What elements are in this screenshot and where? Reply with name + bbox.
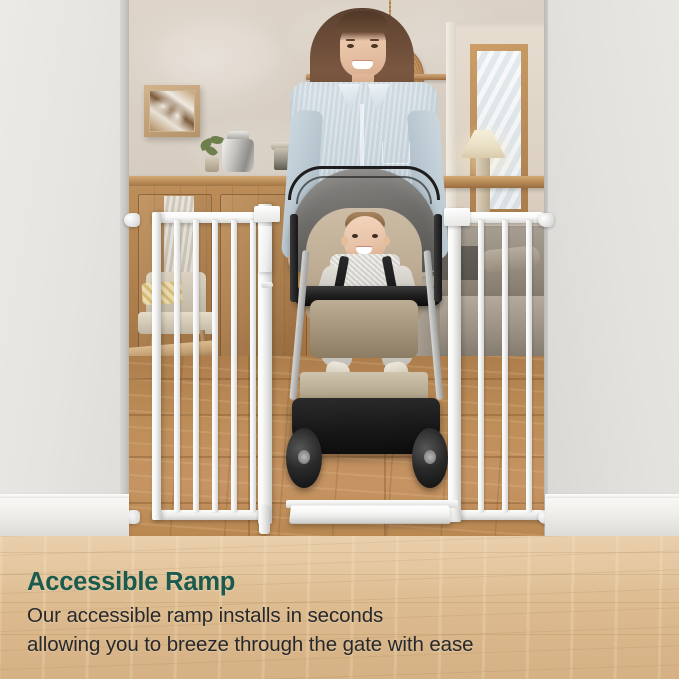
- baseboard-right: [545, 494, 679, 540]
- gate-latch-screw: [261, 282, 273, 288]
- gate-vertical-bar: [193, 220, 199, 512]
- caption-line-1: Our accessible ramp installs in seconds: [27, 601, 679, 630]
- gate-vertical-bar: [502, 220, 508, 512]
- caption-title: Accessible Ramp: [27, 568, 679, 597]
- gate-latch[interactable]: [259, 226, 272, 272]
- gate-vertical-bar: [174, 220, 180, 512]
- baseboard-left: [0, 494, 129, 540]
- gate-hinge-block: [444, 208, 470, 226]
- product-image-card: Accessible Ramp Our accessible ramp inst…: [0, 0, 679, 679]
- gate-hinge-block: [254, 206, 280, 222]
- gate-top-rail: [152, 212, 262, 223]
- caption-line-2: allowing you to breeze through the gate …: [27, 630, 679, 659]
- gate-vertical-bar: [212, 220, 218, 512]
- baby-gate[interactable]: [0, 0, 679, 540]
- product-photo: [0, 0, 679, 540]
- gate-vertical-bar: [478, 220, 484, 512]
- gate-bottom-rail: [152, 510, 262, 520]
- gate-vertical-bar: [250, 220, 256, 512]
- gate-vertical-bar: [231, 220, 237, 512]
- caption-block: Accessible Ramp Our accessible ramp inst…: [0, 560, 679, 679]
- gate-wall-mount-cup: [538, 213, 554, 227]
- accessible-ramp[interactable]: [289, 505, 451, 523]
- gate-left-post: [152, 212, 161, 520]
- gate-center-post-foot: [259, 506, 270, 534]
- gate-wall-mount-cup: [124, 213, 140, 227]
- gate-right-post: [448, 210, 461, 522]
- gate-vertical-bar: [526, 220, 532, 512]
